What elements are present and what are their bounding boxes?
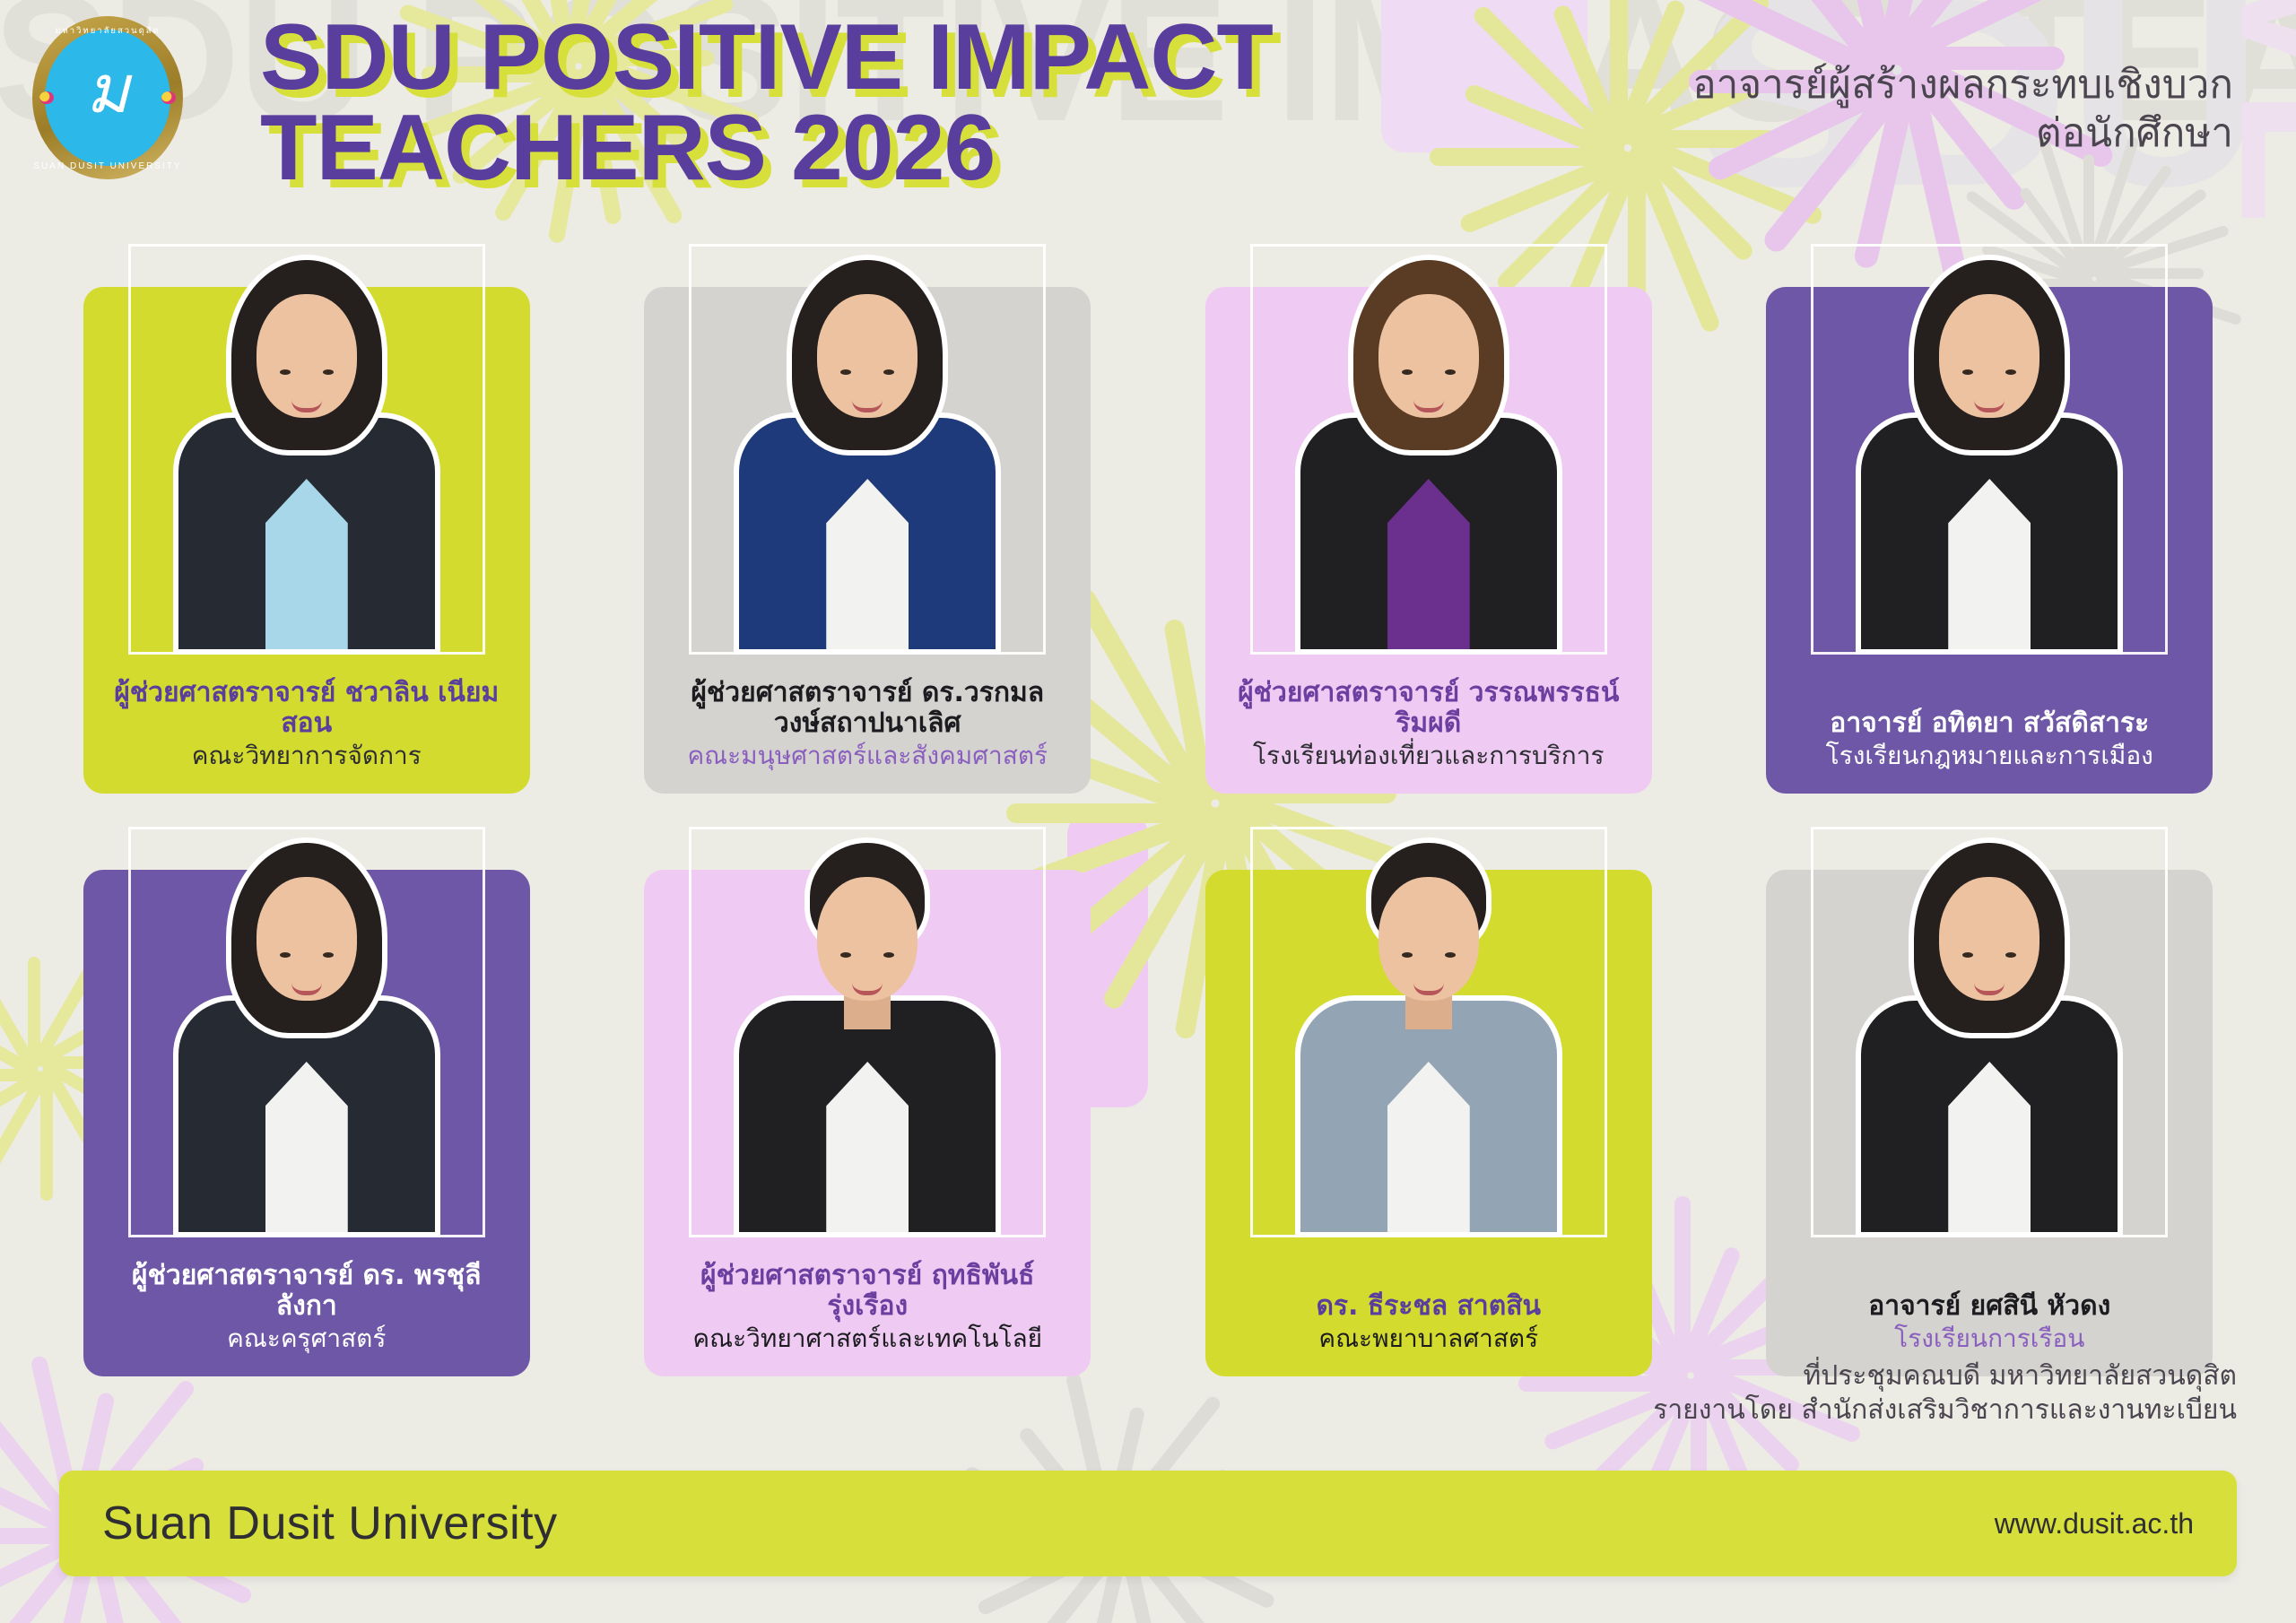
teacher-department: คณะวิทยาการจัดการ (101, 741, 512, 771)
teacher-card: ผู้ช่วยศาสตราจารย์ ชวาลิน เนียมสอน คณะวิ… (63, 244, 551, 809)
flower-icon-right (161, 91, 176, 104)
teacher-name: ผู้ช่วยศาสตราจารย์ ฤทธิพันธ์ รุ่งเรือง (662, 1261, 1073, 1322)
footer-url[interactable]: www.dusit.ac.th (1995, 1507, 2194, 1541)
teacher-card: ผู้ช่วยศาสตราจารย์ วรรณพรรธน์ ริมผดี โรง… (1185, 244, 1673, 809)
teacher-label: ผู้ช่วยศาสตราจารย์ ดร. พรชุลี ลังกา คณะค… (96, 1261, 517, 1354)
teacher-label: ผู้ช่วยศาสตราจารย์ วรรณพรรธน์ ริมผดี โรง… (1218, 678, 1639, 771)
title-wrapper: SDU POSITIVE IMPACT TEACHERS 2026 (260, 13, 1273, 194)
teacher-card: ดร. ธีระชล สาตสิน คณะพยาบาลศาสตร์ (1185, 827, 1673, 1392)
teacher-label: ดร. ธีระชล สาตสิน คณะพยาบาลศาสตร์ (1218, 1291, 1639, 1354)
teacher-grid: ผู้ช่วยศาสตราจารย์ ชวาลิน เนียมสอน คณะวิ… (63, 244, 2233, 1392)
teacher-department: คณะพยาบาลศาสตร์ (1223, 1324, 1634, 1354)
photo-frame (689, 827, 1046, 1235)
teacher-department: คณะครุศาสตร์ (101, 1324, 512, 1354)
photo-frame (1811, 827, 2168, 1235)
teacher-card: ผู้ช่วยศาสตราจารย์ ดร. พรชุลี ลังกา คณะค… (63, 827, 551, 1392)
teacher-name: ผู้ช่วยศาสตราจารย์ ดร. พรชุลี ลังกา (101, 1261, 512, 1322)
photo-frame (1250, 244, 1607, 652)
teacher-department: โรงเรียนท่องเที่ยวและการบริการ (1223, 741, 1634, 771)
teacher-department: คณะมนุษศาสตร์และสังคมศาสตร์ (662, 741, 1073, 771)
teacher-card: อาจารย์ อทิตยา สวัสดิสาระ โรงเรียนกฎหมาย… (1746, 244, 2234, 809)
teacher-label: ผู้ช่วยศาสตราจารย์ ดร.วรกมล วงษ์สถาปนาเล… (657, 678, 1078, 771)
flower-icon-left (39, 91, 54, 104)
teacher-name: ดร. ธีระชล สาตสิน (1223, 1291, 1634, 1322)
teacher-department: คณะวิทยาศาสตร์และเทคโนโลยี (662, 1324, 1073, 1354)
logo-monogram: ม (32, 62, 183, 118)
teacher-label: อาจารย์ ยศสินี หัวดง โรงเรียนการเรือน (1779, 1291, 2200, 1354)
teacher-department: โรงเรียนกฎหมายและการเมือง (1784, 741, 2195, 771)
teacher-name: ผู้ช่วยศาสตราจารย์ ดร.วรกมล วงษ์สถาปนาเล… (662, 678, 1073, 739)
teacher-card: ผู้ช่วยศาสตราจารย์ ดร.วรกมล วงษ์สถาปนาเล… (624, 244, 1112, 809)
teacher-card: อาจารย์ ยศสินี หัวดง โรงเรียนการเรือน (1746, 827, 2234, 1392)
photo-frame (1250, 827, 1607, 1235)
photo-frame (128, 827, 485, 1235)
footer-bar: Suan Dusit University www.dusit.ac.th (59, 1471, 2237, 1576)
teacher-label: อาจารย์ อทิตยา สวัสดิสาระ โรงเรียนกฎหมาย… (1779, 708, 2200, 771)
teacher-name: อาจารย์ ยศสินี หัวดง (1784, 1291, 2195, 1322)
logo-top-text: มหาวิทยาลัยสวนดุสิต (32, 24, 183, 38)
photo-frame (1811, 244, 2168, 652)
photo-frame (689, 244, 1046, 652)
credits-text: ที่ประชุมคณบดี มหาวิทยาลัยสวนดุสิต รายงา… (1653, 1359, 2237, 1428)
teacher-name: ผู้ช่วยศาสตราจารย์ ชวาลิน เนียมสอน (101, 678, 512, 739)
logo-bottom-text: SUAN DUSIT UNIVERSITY (32, 161, 183, 171)
teacher-name: ผู้ช่วยศาสตราจารย์ วรรณพรรธน์ ริมผดี (1223, 678, 1634, 739)
sunburst-yellow-leftmid (36, 1058, 45, 1067)
poster-header: มหาวิทยาลัยสวนดุสิต ม SUAN DUSIT UNIVERS… (0, 0, 2296, 242)
teacher-department: โรงเรียนการเรือน (1784, 1324, 2195, 1354)
teacher-name: อาจารย์ อทิตยา สวัสดิสาระ (1784, 708, 2195, 739)
teacher-card: ผู้ช่วยศาสตราจารย์ ฤทธิพันธ์ รุ่งเรือง ค… (624, 827, 1112, 1392)
footer-brand: Suan Dusit University (102, 1497, 558, 1550)
teacher-label: ผู้ช่วยศาสตราจารย์ ชวาลิน เนียมสอน คณะวิ… (96, 678, 517, 771)
photo-frame (128, 244, 485, 652)
teacher-label: ผู้ช่วยศาสตราจารย์ ฤทธิพันธ์ รุ่งเรือง ค… (657, 1261, 1078, 1354)
page-title: SDU POSITIVE IMPACT TEACHERS 2026 (260, 13, 1273, 194)
page-subtitle: อาจารย์ผู้สร้างผลกระทบเชิงบวก ต่อนักศึกษ… (1692, 61, 2233, 157)
university-logo: มหาวิทยาลัยสวนดุสิต ม SUAN DUSIT UNIVERS… (32, 16, 183, 179)
